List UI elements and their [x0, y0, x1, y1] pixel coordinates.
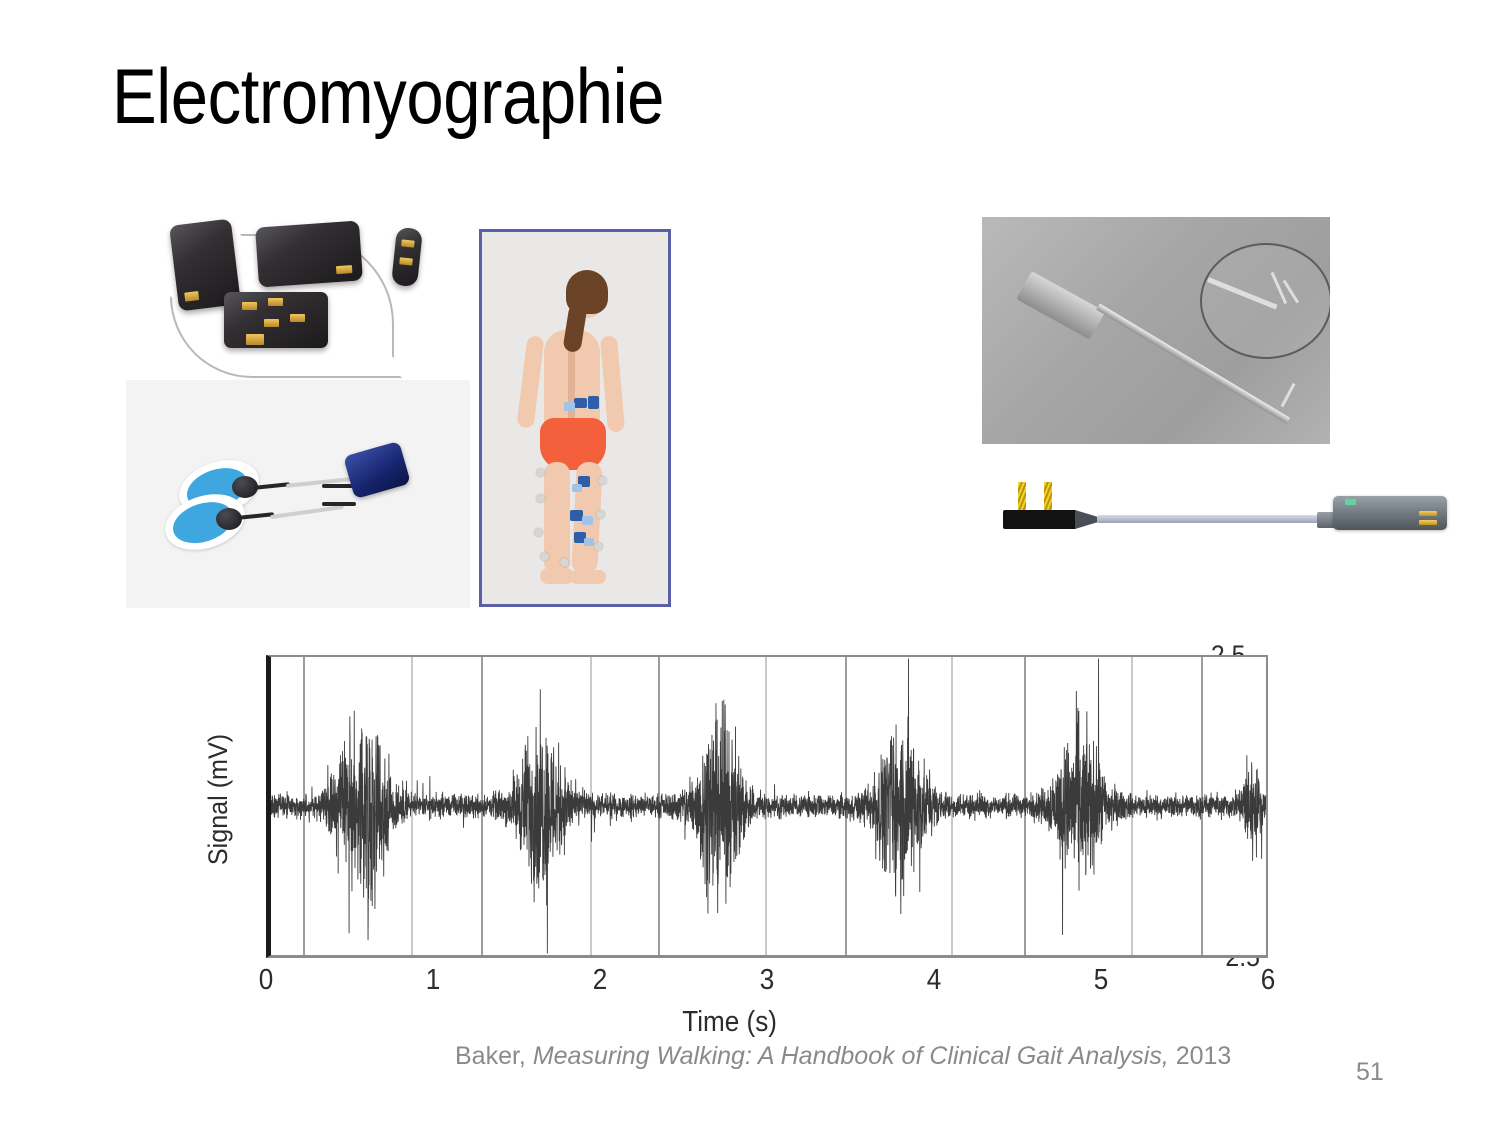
- gold-contact-icon: [1419, 511, 1437, 516]
- gait-marker: [560, 558, 569, 567]
- fine-wire-coil: [1044, 482, 1052, 512]
- sensor-module-top: [255, 220, 363, 287]
- subject-foot-right: [570, 570, 606, 584]
- emg-signal-chart: 2.5 0 −2.5 Signal (mV) 0123456 Time (s): [170, 636, 1290, 1036]
- subject-electrode: [584, 538, 594, 546]
- electrode-lead: [270, 505, 344, 519]
- needle-barb: [1281, 383, 1296, 407]
- status-led-icon: [1345, 499, 1356, 505]
- subject-electrode: [572, 484, 582, 492]
- gold-contact-icon: [268, 298, 283, 306]
- subject-electrode: [582, 516, 593, 525]
- gait-marker: [536, 494, 545, 503]
- wireless-emg-sensors-photo: [152, 214, 468, 382]
- emg-trace: [271, 657, 1266, 955]
- gait-marker: [598, 476, 607, 485]
- gold-contact-icon: [290, 314, 305, 322]
- x-axis-label-text: Time (s): [683, 1006, 778, 1039]
- x-axis-label: Time (s): [170, 1006, 1290, 1039]
- gait-marker: [536, 468, 545, 477]
- gold-contact-icon: [246, 334, 264, 345]
- gold-contact-icon: [184, 291, 199, 302]
- fine-wire-taper: [1075, 510, 1099, 529]
- child-gait-subject-photo: [479, 229, 671, 607]
- page-title: Electromyographie: [112, 54, 664, 138]
- x-axis-tick-label: 4: [927, 964, 942, 997]
- emg-transmitter-module: [343, 441, 411, 499]
- fine-wire-cable: [1097, 515, 1319, 523]
- electrode-lead: [322, 502, 356, 506]
- subject-electrode: [574, 398, 587, 408]
- gait-marker: [596, 510, 605, 519]
- gold-contact-icon: [1419, 520, 1437, 525]
- sensor-module-base: [224, 292, 328, 348]
- subject-electrode: [588, 396, 599, 409]
- subject-foot-left: [540, 568, 574, 584]
- subject-electrode: [564, 402, 575, 411]
- needle-barb-zoom: [1271, 272, 1288, 304]
- needle-electrode-photo: [982, 217, 1330, 444]
- caption-title: Measuring Walking: A Handbook of Clinica…: [533, 1042, 1169, 1070]
- caption-author: Baker,: [455, 1042, 533, 1070]
- x-axis-tick-label: 0: [259, 964, 274, 997]
- needle-hub: [1016, 271, 1105, 340]
- subject-arm-left: [516, 335, 544, 428]
- fine-wire-bar: [1003, 510, 1077, 529]
- gait-marker: [594, 542, 603, 551]
- fine-wire-coil: [1018, 482, 1026, 512]
- sensor-probe: [391, 227, 423, 287]
- gold-contact-icon: [336, 265, 353, 274]
- x-axis-tick-label: 6: [1261, 964, 1276, 997]
- gait-marker: [534, 528, 543, 537]
- source-caption: Baker, Measuring Walking: A Handbook of …: [455, 1042, 1231, 1071]
- surface-electrode-photo: [126, 380, 470, 608]
- gold-contact-icon: [401, 239, 415, 247]
- subject-arm-right: [600, 335, 625, 432]
- fine-wire-adapter-graphic: [985, 470, 1455, 550]
- slide-number: 51: [1356, 1058, 1384, 1087]
- caption-year: 2013: [1169, 1042, 1232, 1070]
- fine-wire-sensor-module: [1333, 496, 1447, 530]
- gold-contact-icon: [264, 319, 279, 327]
- electrode-lead: [254, 482, 290, 490]
- gold-contact-icon: [242, 302, 257, 310]
- x-axis-tick-label: 2: [593, 964, 608, 997]
- needle-magnified-inset: [1200, 243, 1330, 359]
- gait-marker: [540, 552, 549, 561]
- gold-contact-icon: [399, 257, 413, 265]
- needle-shaft-zoom: [1207, 277, 1277, 309]
- y-axis-label: Signal (mV): [203, 734, 234, 865]
- plot-area: [266, 655, 1268, 958]
- x-axis-tick-label: 5: [1094, 964, 1109, 997]
- x-axis-tick-label: 1: [426, 964, 441, 997]
- x-axis-tick-label: 3: [760, 964, 775, 997]
